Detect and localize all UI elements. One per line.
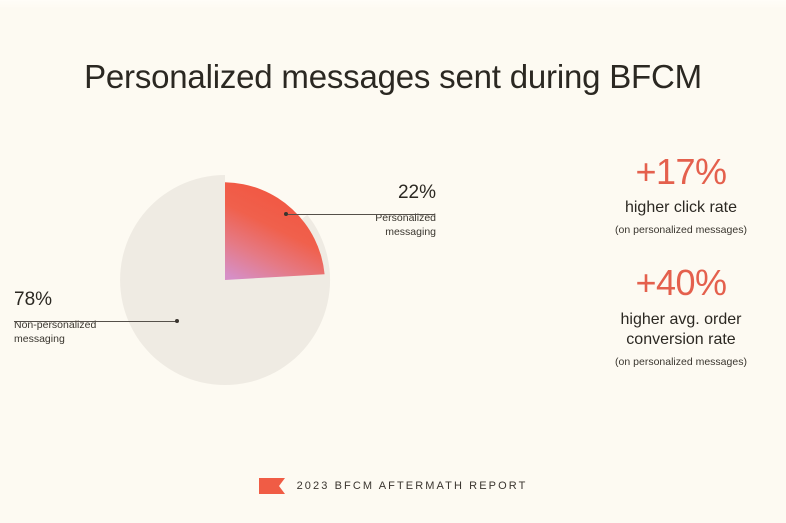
leader-line-personalized bbox=[288, 214, 435, 215]
callout-non-personalized-label-line2: messaging bbox=[14, 333, 194, 347]
top-edge-sheen bbox=[0, 0, 786, 9]
stat-conversion-rate-headline: higher avg. order conversion rate bbox=[576, 310, 786, 351]
callout-personalized: 22% Personalized messaging bbox=[330, 183, 436, 240]
stat-conversion-rate-headline-line2: conversion rate bbox=[576, 330, 786, 350]
pie-chart-svg bbox=[120, 175, 330, 385]
stat-conversion-rate-note: (on personalized messages) bbox=[576, 356, 786, 370]
stat-click-rate: +17% higher click rate (on personalized … bbox=[576, 152, 786, 237]
stats-column: +17% higher click rate (on personalized … bbox=[576, 152, 786, 369]
stat-conversion-rate: +40% higher avg. order conversion rate (… bbox=[576, 263, 786, 369]
page-title: Personalized messages sent during BFCM bbox=[0, 58, 786, 96]
stat-click-rate-value: +17% bbox=[576, 152, 786, 192]
callout-non-personalized-percent: 78% bbox=[14, 290, 194, 311]
callout-personalized-label: Personalized messaging bbox=[330, 212, 436, 240]
pie-chart bbox=[120, 175, 330, 385]
callout-non-personalized: 78% Non-personalized messaging bbox=[14, 290, 194, 347]
leader-dot-personalized bbox=[284, 212, 288, 216]
callout-non-personalized-label: Non-personalized messaging bbox=[14, 319, 194, 347]
footer: 2023 BFCM AFTERMATH REPORT bbox=[0, 478, 786, 494]
leader-dot-non-personalized bbox=[175, 319, 179, 323]
stat-click-rate-headline: higher click rate bbox=[576, 198, 786, 218]
stat-conversion-rate-headline-line1: higher avg. order bbox=[576, 310, 786, 330]
stat-conversion-rate-value: +40% bbox=[576, 263, 786, 303]
callout-personalized-label-line2: messaging bbox=[330, 226, 436, 240]
callout-personalized-percent: 22% bbox=[330, 183, 436, 204]
pie-slice-personalized bbox=[225, 182, 325, 280]
flag-icon bbox=[259, 478, 285, 494]
leader-line-non-personalized bbox=[14, 321, 177, 322]
stat-click-rate-note: (on personalized messages) bbox=[576, 224, 786, 238]
infographic-canvas: Personalized messages sent during BFCM 2… bbox=[0, 0, 786, 523]
footer-label: 2023 BFCM AFTERMATH REPORT bbox=[297, 480, 528, 492]
